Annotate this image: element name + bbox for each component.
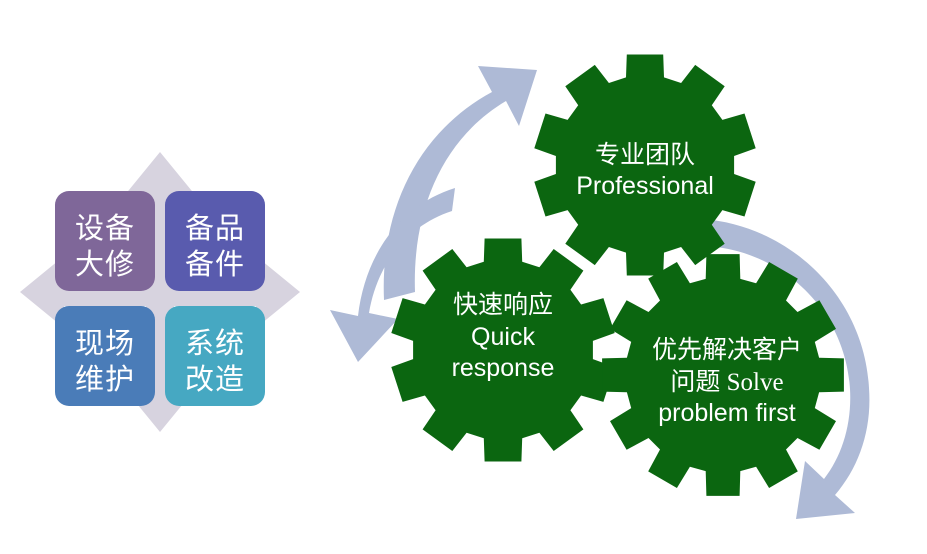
- tile-onsite-maintenance-line2: 维护: [75, 363, 135, 396]
- tile-equipment-overhaul-line1: 设备: [75, 212, 135, 245]
- tile-system-upgrade[interactable]: 系统 改造: [165, 306, 265, 406]
- quadrant-diagram: 设备 大修 备品 备件 现场 维护 系统 改造: [20, 152, 300, 432]
- gear-quick-response-line-1: Quick: [471, 323, 535, 351]
- gear-quick-response-line-2: response: [452, 354, 555, 382]
- gear-diagram: 专业团队 Professional 快速响应 Quick response 优先…: [330, 55, 869, 520]
- tile-equipment-overhaul-line2: 大修: [75, 248, 135, 281]
- tile-spare-parts-line2: 备件: [185, 248, 245, 281]
- tile-spare-parts-line1: 备品: [185, 212, 245, 245]
- gear-solve-problem-first-line-1: 问题 Solve: [670, 368, 783, 396]
- gear-professional-line-0: 专业团队: [595, 141, 695, 169]
- gear-quick-response-line-0: 快速响应: [453, 291, 553, 319]
- tile-system-upgrade-line1: 系统: [185, 327, 245, 360]
- tile-onsite-maintenance-line1: 现场: [75, 328, 135, 360]
- tile-equipment-overhaul[interactable]: 设备 大修: [55, 191, 155, 291]
- tile-system-upgrade-line2: 改造: [185, 363, 245, 396]
- gear-solve-problem-first-line-2: problem first: [658, 399, 796, 427]
- tile-spare-parts[interactable]: 备品 备件: [165, 191, 265, 291]
- illustration-canvas: 设备 大修 备品 备件 现场 维护 系统 改造 专业团队: [0, 0, 927, 554]
- gear-professional-line-1: Professional: [576, 172, 714, 200]
- gear-quick-response[interactable]: 快速响应 Quick response: [391, 239, 614, 462]
- gear-solve-problem-first-line-0: 优先解决客户: [652, 336, 802, 364]
- tile-onsite-maintenance[interactable]: 现场 维护: [55, 306, 155, 406]
- gear-professional[interactable]: 专业团队 Professional: [534, 55, 755, 276]
